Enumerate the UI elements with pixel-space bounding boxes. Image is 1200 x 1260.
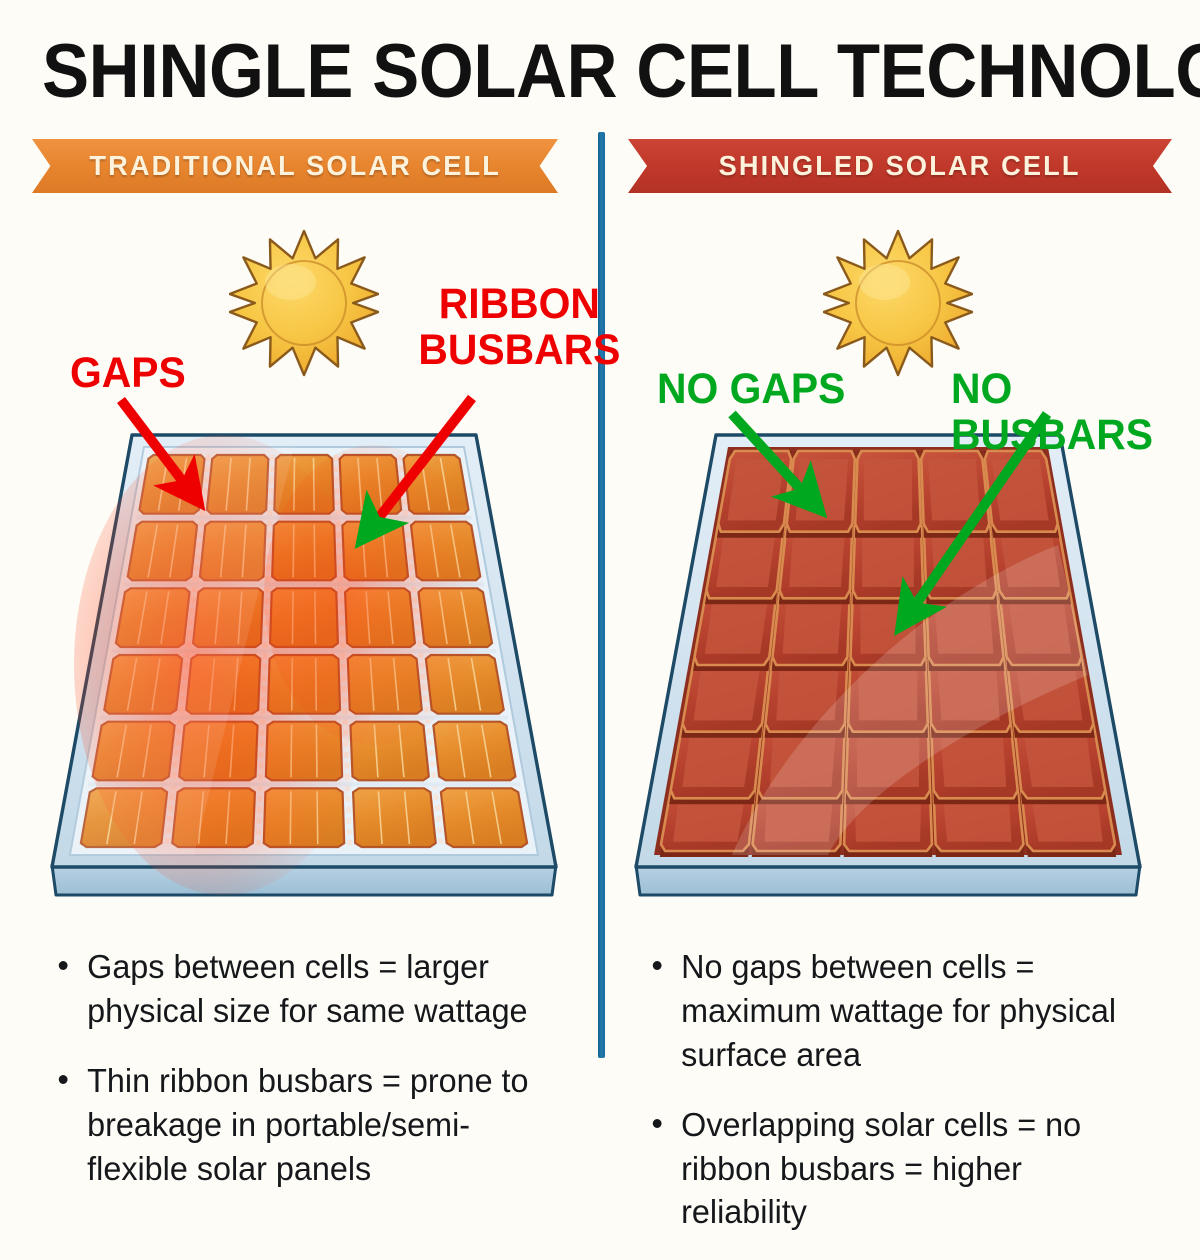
- callout-label-gaps: GAPS: [70, 350, 186, 396]
- bullet-list-traditional: Gaps between cells = larger physical siz…: [46, 945, 566, 1190]
- page-title: SHINGLE SOLAR CELL TECHNOLOGY: [42, 34, 1158, 110]
- traditional-solar-panel: [44, 425, 564, 915]
- solar-cell: [441, 788, 527, 847]
- solar-cell: [433, 722, 515, 781]
- shingled-solar-panel: [628, 425, 1148, 915]
- banner-shingled-label: SHINGLED SOLAR CELL: [719, 150, 1081, 182]
- sun-icon: [823, 228, 973, 378]
- callout-label-no-busbars: NO BUSBARS: [951, 366, 1188, 459]
- banner-traditional: TRADITIONAL SOLAR CELL: [32, 139, 558, 193]
- bullets-shingled: No gaps between cells = maximum wattage …: [640, 945, 1160, 1260]
- solar-cell: [353, 788, 436, 847]
- list-item: No gaps between cells = maximum wattage …: [640, 945, 1150, 1077]
- infographic-canvas: SHINGLE SOLAR CELL TECHNOLOGY TRADITIONA…: [0, 0, 1200, 1200]
- banner-traditional-label: TRADITIONAL SOLAR CELL: [89, 150, 501, 182]
- sun-icon: [229, 228, 379, 378]
- list-item: Gaps between cells = larger physical siz…: [46, 945, 556, 1033]
- shingle-cell-face: [727, 459, 784, 520]
- shingle-cell-face: [864, 459, 912, 520]
- shingle-cell-face: [928, 459, 981, 520]
- shingle-cell-face: [796, 459, 849, 520]
- bullet-list-shingled: No gaps between cells = maximum wattage …: [640, 945, 1160, 1234]
- bullets-traditional: Gaps between cells = larger physical siz…: [46, 945, 566, 1216]
- list-item: Overlapping solar cells = no ribbon busb…: [640, 1103, 1150, 1235]
- banner-shingled: SHINGLED SOLAR CELL: [628, 139, 1172, 193]
- list-item: Thin ribbon busbars = prone to breakage …: [46, 1059, 556, 1191]
- column-divider: [598, 132, 605, 1058]
- callout-label-no-gaps: NO GAPS: [657, 366, 845, 412]
- shingle-cell-face: [992, 459, 1049, 520]
- callout-label-ribbon-busbars: RIBBON BUSBARS: [418, 281, 620, 374]
